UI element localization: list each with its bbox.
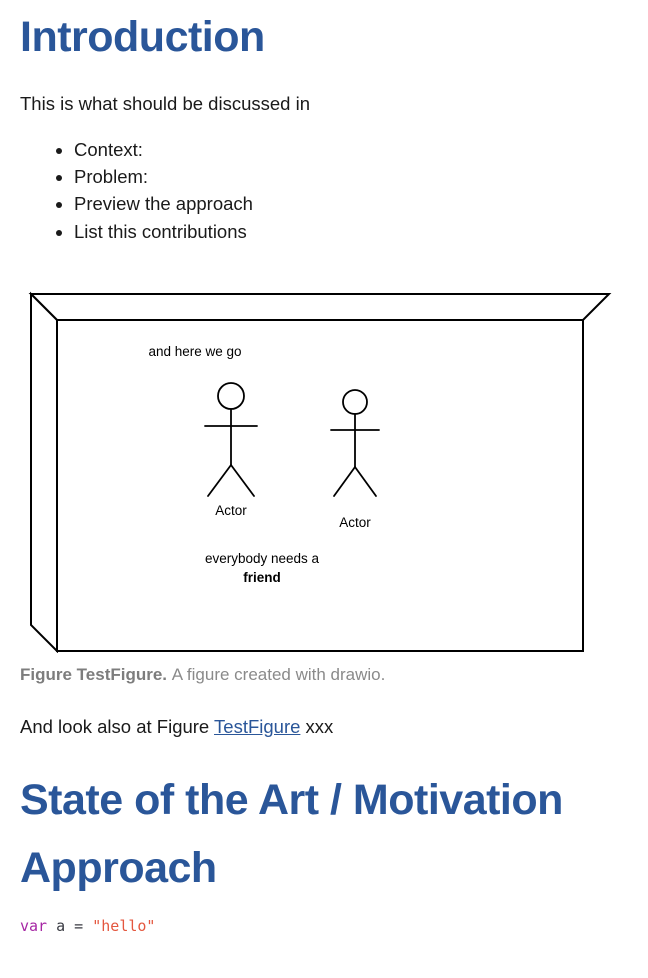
list-item: List this contributions [74,218,628,245]
code-token-plain: a = [47,917,92,935]
list-item: Preview the approach [74,190,628,217]
figure-note-bottom-line1: everybody needs a [162,550,362,568]
intro-paragraph: This is what should be discussed in [20,91,628,118]
reference-text-after: xxx [300,716,333,737]
figure-caption-prefix: Figure TestFigure. [20,665,167,684]
figure-drawing: and here we go Actor Actor everybody nee… [20,283,628,653]
heading-introduction: Introduction [20,0,628,63]
actor-right-label: Actor [305,514,405,532]
code-token-string: "hello" [92,917,155,935]
document-page: Introduction This is what should be disc… [0,0,648,937]
heading-approach: Approach [20,843,628,894]
cube-shape [31,294,609,651]
figure-block: and here we go Actor Actor everybody nee… [20,283,628,688]
figure-note-bottom-line2: friend [162,569,362,587]
discussion-bullet-list: Context: Problem: Preview the approach L… [20,136,628,246]
figure-reference-paragraph: And look also at Figure TestFigure xxx [20,714,628,741]
drawio-diagram-svg [20,283,628,653]
figure-reference-link[interactable]: TestFigure [214,716,300,737]
list-item: Problem: [74,163,628,190]
cube-left-face [31,294,57,651]
cube-front-face [57,320,583,651]
figure-caption: Figure TestFigure. A figure created with… [20,663,628,688]
figure-note-top: and here we go [125,343,265,361]
figure-caption-text: A figure created with drawio. [172,665,386,684]
heading-state-of-the-art: State of the Art / Motivation [20,775,628,826]
code-block: var a = "hello" [20,916,628,937]
actor-right-head-icon [343,390,367,414]
cube-top-face [31,294,609,320]
list-item: Context: [74,136,628,163]
code-token-keyword: var [20,917,47,935]
actor-left-label: Actor [181,502,281,520]
reference-text-before: And look also at Figure [20,716,214,737]
actor-left-head-icon [218,383,244,409]
